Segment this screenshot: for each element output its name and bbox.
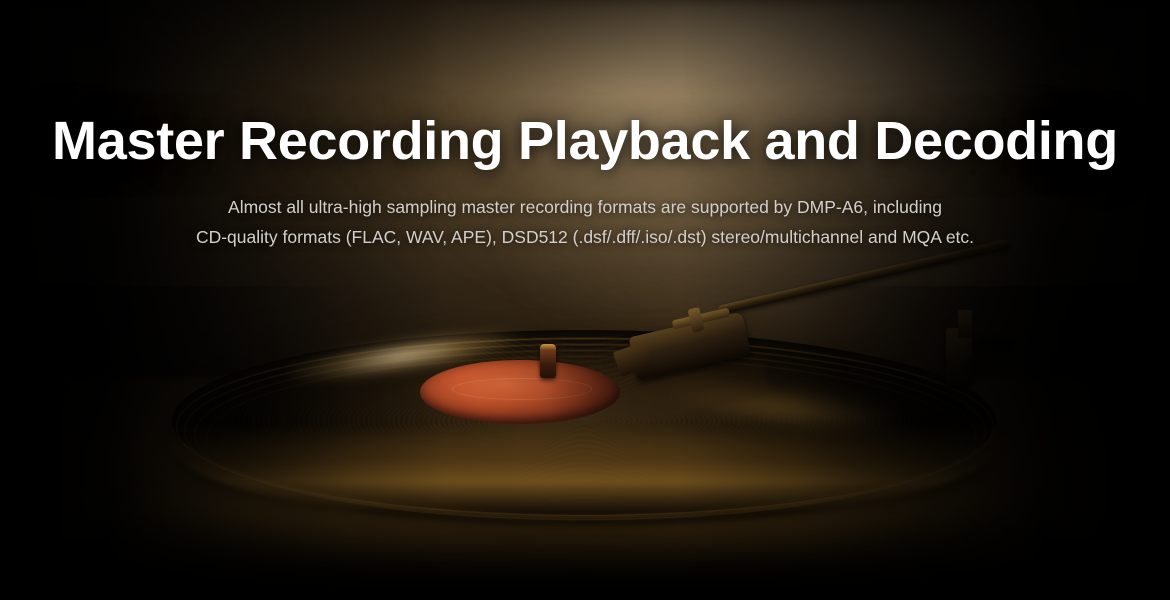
subtitle-line-1: Almost all ultra-high sampling master re… (135, 192, 1035, 222)
subtitle-line-2: CD-quality formats (FLAC, WAV, APE), DSD… (135, 222, 1035, 252)
page-title: Master Recording Playback and Decoding (0, 0, 1170, 170)
scene-edge-shading (0, 286, 1170, 600)
hero-banner: Master Recording Playback and Decoding A… (0, 0, 1170, 600)
banner-subtitle: Almost all ultra-high sampling master re… (135, 170, 1035, 252)
banner-copy: Master Recording Playback and Decoding A… (0, 0, 1170, 252)
turntable-scene (0, 286, 1170, 600)
